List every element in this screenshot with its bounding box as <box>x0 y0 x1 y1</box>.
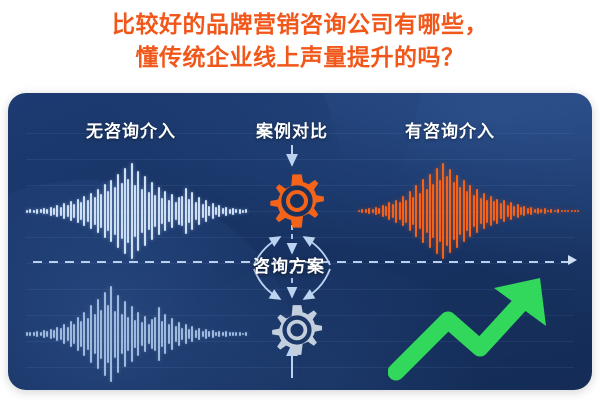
waveform-bar <box>554 210 556 213</box>
waveform-bar <box>229 332 231 335</box>
waveform-bar <box>137 312 139 357</box>
waveform-bar <box>137 171 139 251</box>
waveform-bar <box>395 200 397 223</box>
waveform-bar <box>124 301 126 366</box>
waveform-bar <box>577 210 579 212</box>
waveform-bar <box>405 200 407 223</box>
waveform-bar <box>198 197 200 225</box>
waveform-bar <box>527 208 529 214</box>
waveform-bar <box>242 210 244 213</box>
waveform-bar <box>29 332 31 336</box>
waveform-bar <box>544 208 546 214</box>
waveform-bar <box>161 321 163 348</box>
waveform-bar <box>456 175 458 248</box>
waveform-bar <box>87 200 89 222</box>
waveform-bar <box>90 193 92 229</box>
waveform-bar <box>388 202 390 219</box>
waveform-bar <box>104 292 106 376</box>
waveform-bar <box>43 208 45 214</box>
waveform-bar <box>148 324 150 344</box>
waveform-bar <box>439 180 441 241</box>
waveform-bar <box>409 191 411 231</box>
waveform-bar <box>97 189 99 233</box>
waveform-bar <box>239 209 241 214</box>
waveform-bar <box>100 194 102 228</box>
waveform-bar <box>50 329 52 339</box>
waveform-bar <box>80 321 82 348</box>
waveform-bar <box>77 317 79 352</box>
waveform-bar <box>520 207 522 215</box>
waveform-bar <box>110 286 112 382</box>
waveform-bar <box>46 331 48 336</box>
waveform-bar <box>175 202 177 220</box>
waveform-bar <box>225 331 227 336</box>
waveform-bar <box>63 203 65 219</box>
waveform-bar <box>70 201 72 221</box>
waveform-bar <box>245 332 247 335</box>
waveform-bar <box>56 327 58 341</box>
waveform-consulting-plan <box>26 286 248 382</box>
waveform-bar <box>426 189 428 233</box>
trending-up-arrow-icon <box>388 272 558 387</box>
waveform-bar <box>463 180 465 241</box>
waveform-bar <box>117 174 119 248</box>
waveform-bar <box>178 197 180 225</box>
waveform-bar <box>222 208 224 214</box>
waveform-bar <box>164 314 166 355</box>
waveform-bar <box>493 201 495 220</box>
waveform-bar <box>419 193 421 230</box>
waveform-bar <box>202 204 204 218</box>
waveform-bar <box>144 316 146 353</box>
waveform-bar <box>36 209 38 214</box>
waveform-bar <box>574 210 576 212</box>
waveform-bar <box>43 330 45 337</box>
waveform-bar <box>144 176 146 246</box>
arrow-right-icon <box>568 255 577 265</box>
label-case-comparison: 案例对比 <box>256 117 328 142</box>
waveform-bar <box>90 305 92 362</box>
waveform-bar <box>432 184 434 238</box>
waveform-bar <box>94 314 96 355</box>
waveform-bar <box>473 195 475 228</box>
waveform-bar <box>83 196 85 226</box>
waveform-bar <box>212 203 214 219</box>
waveform-bar <box>218 331 220 337</box>
waveform-bar <box>100 310 102 359</box>
waveform-bar <box>245 209 247 213</box>
waveform-bar <box>161 198 163 224</box>
waveform-bar <box>382 205 384 218</box>
waveform-bar <box>225 207 227 216</box>
waveform-bar <box>368 208 370 215</box>
waveform-bar <box>73 204 75 218</box>
waveform-bar <box>124 168 126 254</box>
waveform-bar <box>195 202 197 220</box>
waveform-bar <box>239 332 241 336</box>
waveform-bar <box>154 317 156 352</box>
waveform-bar <box>158 307 160 360</box>
waveform-bar <box>171 194 173 228</box>
waveform-bar <box>358 210 360 213</box>
waveform-bar <box>500 203 502 218</box>
waveform-bar <box>175 326 177 342</box>
waveform-bar <box>222 332 224 335</box>
waveform-bar <box>151 182 153 240</box>
waveform-bar <box>148 192 150 230</box>
waveform-bar <box>36 331 38 336</box>
waveform-bar <box>208 206 210 216</box>
waveform-bar <box>567 210 569 212</box>
waveform-bar <box>392 204 394 217</box>
waveform-bar <box>171 318 173 351</box>
waveform-bar <box>453 182 455 240</box>
waveform-bar <box>232 208 234 215</box>
waveform-bar <box>215 207 217 215</box>
page-title: 比较好的品牌营销咨询公司有哪些， 懂传统企业线上声量提升的吗？ <box>0 8 600 74</box>
waveform-bar <box>60 207 62 216</box>
waveform-bar <box>131 306 133 361</box>
waveform-bar <box>571 210 573 213</box>
label-no-consulting: 无咨询介入 <box>86 117 176 142</box>
waveform-bar <box>375 207 377 216</box>
waveform-bar <box>50 207 52 216</box>
waveform-bar <box>114 311 116 358</box>
waveform-bar <box>158 187 160 235</box>
gear-icon-orange <box>268 172 326 235</box>
waveform-bar <box>56 205 58 217</box>
waveform-bar <box>510 202 512 219</box>
page-title-line-1: 比较好的品牌营销咨询公司有哪些， <box>112 11 488 37</box>
waveform-bar <box>178 322 180 347</box>
waveform-no-consulting <box>26 163 248 259</box>
waveform-bar <box>117 295 119 373</box>
waveform-bar <box>185 188 187 234</box>
waveform-bar <box>188 199 190 223</box>
waveform-bar <box>168 324 170 344</box>
waveform-bar <box>218 205 220 217</box>
infographic-root: 比较好的品牌营销咨询公司有哪些， 懂传统企业线上声量提升的吗？ <box>0 0 600 400</box>
waveform-bar <box>540 209 542 213</box>
waveform-bar <box>365 209 367 213</box>
waveform-bar <box>429 174 431 249</box>
waveform-bar <box>164 191 166 231</box>
waveform-bar <box>402 196 404 227</box>
waveform-bar <box>67 205 69 217</box>
waveform-bar <box>517 204 519 217</box>
waveform-bar <box>212 330 214 337</box>
waveform-bar <box>446 176 448 245</box>
waveform-bar <box>476 189 478 233</box>
waveform-with-consulting <box>358 163 580 259</box>
waveform-bar <box>459 187 461 235</box>
waveform-bar <box>361 209 363 214</box>
waveform-bar <box>33 210 35 213</box>
waveform-bar <box>110 180 112 242</box>
waveform-bar <box>63 324 65 343</box>
waveform-bar <box>513 206 515 216</box>
waveform-bar <box>198 328 200 340</box>
waveform-bar <box>67 327 69 341</box>
waveform-bar <box>550 209 552 214</box>
waveform-bar <box>399 202 401 219</box>
waveform-bar <box>154 195 156 227</box>
page-title-line-2: 懂传统企业线上声量提升的吗？ <box>0 41 600 74</box>
waveform-bar <box>97 299 99 368</box>
waveform-bar <box>114 187 116 235</box>
waveform-bar <box>564 210 566 213</box>
waveform-bar <box>26 210 28 213</box>
label-with-consulting: 有咨询介入 <box>405 117 495 142</box>
waveform-bar <box>185 324 187 344</box>
waveform-bar <box>77 199 79 223</box>
waveform-bar <box>70 321 72 348</box>
waveform-bar <box>205 329 207 338</box>
waveform-bar <box>215 332 217 336</box>
waveform-bar <box>503 200 505 221</box>
waveform-bar <box>561 210 563 212</box>
waveform-bar <box>202 331 204 337</box>
waveform-bar <box>121 183 123 239</box>
waveform-bar <box>151 319 153 350</box>
waveform-bar <box>466 191 468 231</box>
waveform-bar <box>496 199 498 224</box>
waveform-bar <box>131 163 133 259</box>
waveform-bar <box>29 209 31 213</box>
waveform-bar <box>235 209 237 213</box>
waveform-bar <box>557 209 559 213</box>
waveform-bar <box>208 331 210 336</box>
waveform-bar <box>94 197 96 225</box>
waveform-bar <box>378 208 380 215</box>
waveform-bar <box>507 205 509 218</box>
waveform-bar <box>53 330 55 338</box>
waveform-bar <box>547 210 549 213</box>
waveform-bar <box>469 185 471 237</box>
waveform-bar <box>127 179 129 243</box>
waveform-bar <box>181 196 183 226</box>
waveform-bar <box>83 312 85 357</box>
waveform-bar <box>412 197 414 226</box>
waveform-bar <box>422 179 424 242</box>
waveform-bar <box>87 318 89 351</box>
label-consulting-plan: 咨询方案 <box>253 252 325 277</box>
waveform-bar <box>73 324 75 344</box>
waveform-bar <box>229 209 231 214</box>
waveform-bar <box>232 332 234 336</box>
waveform-bar <box>107 305 109 362</box>
waveform-bar <box>242 333 244 335</box>
waveform-bar <box>449 169 451 254</box>
waveform-bar <box>188 329 190 339</box>
waveform-bar <box>490 196 492 227</box>
waveform-bar <box>235 332 237 335</box>
waveform-bar <box>60 328 62 339</box>
waveform-bar <box>442 163 444 259</box>
waveform-bar <box>436 168 438 254</box>
waveform-bar <box>486 200 488 223</box>
waveform-bar <box>40 209 42 213</box>
waveform-bar <box>191 326 193 341</box>
waveform-bar <box>141 189 143 233</box>
waveform-bar <box>53 208 55 215</box>
waveform-bar <box>80 202 82 220</box>
waveform-bar <box>141 322 143 347</box>
waveform-bar <box>46 209 48 214</box>
waveform-bar <box>134 185 136 237</box>
waveform-bar <box>483 193 485 230</box>
waveform-bar <box>191 192 193 230</box>
waveform-bar <box>26 332 28 335</box>
waveform-bar <box>537 208 539 215</box>
waveform-bar <box>104 184 106 238</box>
waveform-bar <box>480 198 482 225</box>
waveform-bar <box>40 332 42 336</box>
waveform-bar <box>372 209 374 214</box>
waveform-bar <box>121 314 123 355</box>
waveform-bar <box>107 191 109 231</box>
waveform-bar <box>534 209 536 214</box>
gear-icon-gray <box>270 303 324 362</box>
waveform-bar <box>168 200 170 222</box>
waveform-bar <box>127 317 129 352</box>
waveform-bar <box>134 320 136 349</box>
waveform-bar <box>205 200 207 222</box>
waveform-bar <box>385 206 387 216</box>
waveform-bar <box>415 185 417 237</box>
waveform-bar <box>530 207 532 216</box>
waveform-bar <box>181 328 183 340</box>
waveform-bar <box>195 330 197 338</box>
waveform-bar <box>33 332 35 335</box>
waveform-bar <box>523 206 525 217</box>
